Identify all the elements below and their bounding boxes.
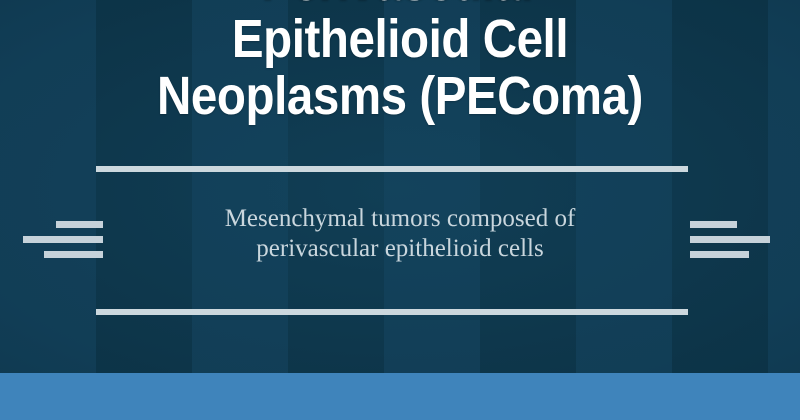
slide-content: Perivascular Epithelioid Cell Neoplasms … — [0, 0, 800, 420]
subtitle-line-2: perivascular epithelioid cells — [110, 234, 690, 264]
divider-top — [96, 166, 688, 172]
triple-bar-ornament-right-icon — [690, 221, 780, 261]
page-title: Perivascular Epithelioid Cell Neoplasms … — [0, 0, 800, 125]
subtitle-line-1: Mesenchymal tumors composed of — [110, 204, 690, 234]
triple-bar-ornament-left-icon — [13, 221, 103, 261]
title-line-3: Neoplasms (PEComa) — [48, 68, 752, 125]
divider-bottom — [96, 309, 688, 315]
ornament-bar-medium — [690, 251, 749, 258]
title-slide: Perivascular Epithelioid Cell Neoplasms … — [0, 0, 800, 420]
subtitle: Mesenchymal tumors composed of perivascu… — [110, 204, 690, 264]
title-line-2: Epithelioid Cell — [48, 11, 752, 68]
bottom-accent-band — [0, 373, 800, 420]
ornament-bar-long — [23, 236, 103, 243]
ornament-bar-short — [56, 221, 103, 228]
ornament-bar-medium — [44, 251, 103, 258]
ornament-bar-long — [690, 236, 770, 243]
ornament-bar-short — [690, 221, 737, 228]
